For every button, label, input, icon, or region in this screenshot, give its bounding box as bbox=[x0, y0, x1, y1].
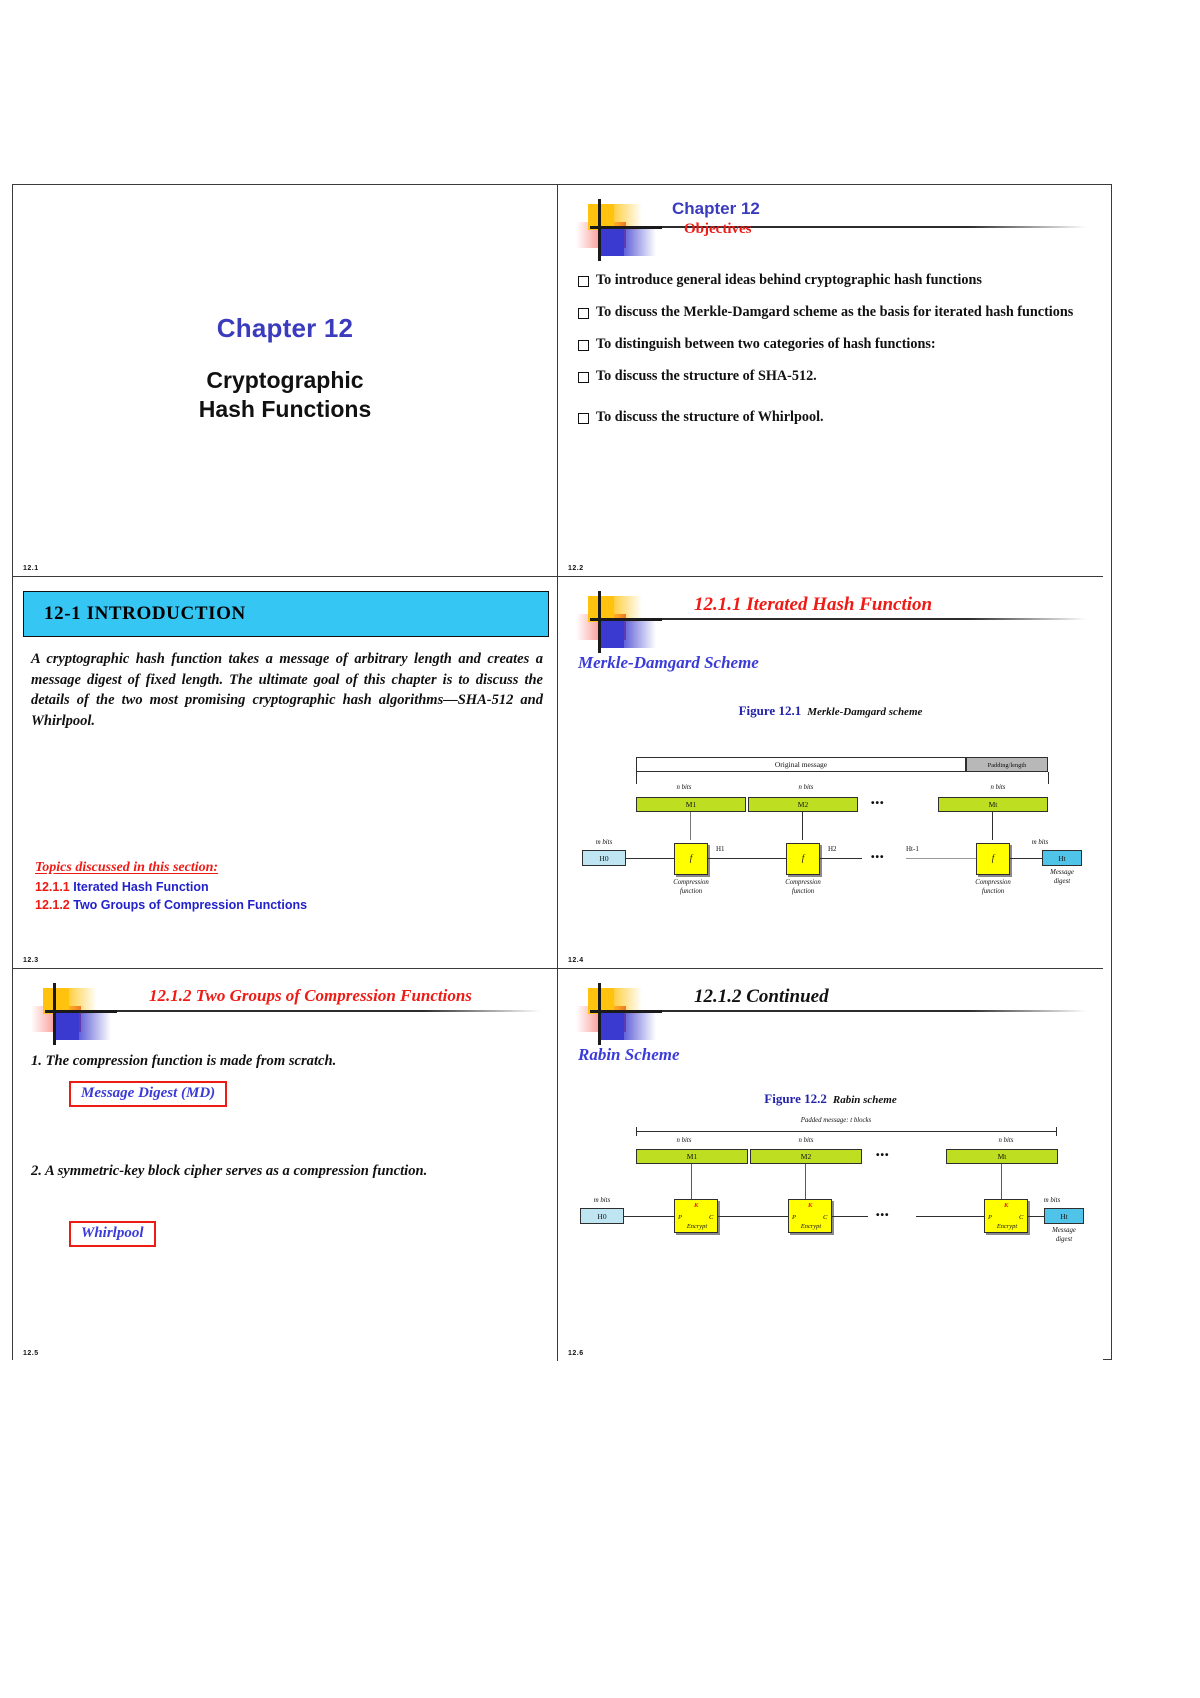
ornament-icon bbox=[576, 199, 662, 261]
bit-label: n bits bbox=[776, 784, 836, 791]
title-block: Chapter 12 Cryptographic Hash Functions bbox=[13, 313, 557, 425]
iv-block: H0 bbox=[582, 850, 626, 866]
topics-block: Topics discussed in this section: 12.1.1… bbox=[35, 860, 307, 912]
slide-two-groups: 12.1.2 Two Groups of Compression Functio… bbox=[13, 969, 558, 1361]
bullet-square-icon bbox=[578, 372, 589, 383]
slide-introduction: 12-1 INTRODUCTION A cryptographic hash f… bbox=[13, 577, 558, 969]
section-banner: 12-1 INTRODUCTION bbox=[23, 591, 549, 637]
topic-number: 12.1.2 bbox=[35, 898, 70, 912]
slide-header: Chapter 12 Objectives bbox=[576, 199, 1087, 261]
ellipsis: ••• bbox=[876, 1210, 890, 1221]
section-banner-label: 12-1 INTRODUCTION bbox=[44, 603, 246, 625]
figure-caption-text: Rabin scheme bbox=[833, 1094, 897, 1106]
message-digest-block: Ht bbox=[1044, 1208, 1084, 1224]
message-block: M1 bbox=[636, 797, 746, 812]
padded-message-label: Padded message: t blocks bbox=[706, 1117, 966, 1124]
figure-caption: Figure 12.1 Merkle-Damgard scheme bbox=[558, 703, 1103, 719]
function-caption-line2: function bbox=[963, 888, 1023, 895]
slide-header: 12.1.2 Continued bbox=[576, 983, 1087, 1045]
ellipsis: ••• bbox=[871, 798, 885, 809]
cipher-name: Encrypt bbox=[789, 1223, 833, 1230]
slide-grid: Chapter 12 Cryptographic Hash Functions … bbox=[12, 184, 1112, 1360]
bit-label: n bits bbox=[776, 1137, 836, 1144]
topics-heading: Topics discussed in this section: bbox=[35, 860, 307, 876]
figure-caption-number: Figure 12.2 bbox=[764, 1091, 827, 1106]
header-rule bbox=[117, 1010, 541, 1012]
slide-continued-rabin: 12.1.2 Continued Rabin Scheme Figure 12.… bbox=[558, 969, 1103, 1361]
header-title: 12.1.1 Iterated Hash Function bbox=[694, 594, 932, 616]
output-caption-line1: Message bbox=[1040, 1227, 1088, 1234]
objective-text: To introduce general ideas behind crypto… bbox=[596, 271, 1085, 290]
compression-function-box: f bbox=[786, 843, 820, 875]
slide-header: 12.1.2 Two Groups of Compression Functio… bbox=[31, 983, 541, 1045]
cipher-box: P K C Encrypt bbox=[984, 1199, 1028, 1233]
header-rule bbox=[662, 618, 1087, 620]
message-block: Mt bbox=[938, 797, 1048, 812]
slide-title: Chapter 12 Cryptographic Hash Functions … bbox=[13, 185, 558, 577]
bit-label: n bits bbox=[976, 1137, 1036, 1144]
ellipsis: ••• bbox=[871, 852, 885, 863]
bullet-square-icon bbox=[578, 413, 589, 424]
bit-label: n bits bbox=[654, 1137, 714, 1144]
header-subtitle: Objectives bbox=[684, 221, 751, 238]
function-caption-line1: Compression bbox=[963, 879, 1023, 886]
objective-text: To distinguish between two categories of… bbox=[596, 335, 1085, 354]
function-caption-line2: function bbox=[661, 888, 721, 895]
chain-label: Ht-1 bbox=[906, 845, 919, 853]
ciphertext-label: C bbox=[709, 1214, 713, 1221]
message-block: Mt bbox=[946, 1149, 1058, 1164]
function-caption-line1: Compression bbox=[773, 879, 833, 886]
slide-page-number: 12.4 bbox=[568, 957, 584, 964]
output-caption-line1: Message bbox=[1038, 869, 1086, 876]
cipher-box: P K C Encrypt bbox=[674, 1199, 718, 1233]
figure-caption: Figure 12.2 Rabin scheme bbox=[558, 1091, 1103, 1107]
sub-heading: Rabin Scheme bbox=[578, 1045, 680, 1065]
ornament-icon bbox=[576, 591, 662, 653]
bit-label: n bits bbox=[968, 784, 1028, 791]
slide-page-number: 12.2 bbox=[568, 565, 584, 572]
list-item: To distinguish between two categories of… bbox=[578, 335, 1085, 354]
header-rule bbox=[662, 1010, 1087, 1012]
slide-page-number: 12.1 bbox=[23, 565, 39, 572]
ellipsis: ••• bbox=[876, 1150, 890, 1161]
figure-merkle-damgard: Original message Padding/length n bits n… bbox=[576, 757, 1086, 942]
plaintext-label: P bbox=[678, 1214, 682, 1221]
key-label: K bbox=[694, 1202, 698, 1209]
padding-length-bar: Padding/length bbox=[966, 757, 1048, 772]
highlight-box-md: Message Digest (MD) bbox=[69, 1081, 227, 1107]
iv-block: H0 bbox=[580, 1208, 624, 1224]
message-block: M2 bbox=[750, 1149, 862, 1164]
cipher-name: Encrypt bbox=[675, 1223, 719, 1230]
list-item: 12.1.1 Iterated Hash Function bbox=[35, 880, 307, 894]
list-item: To discuss the Merkle-Damgard scheme as … bbox=[578, 303, 1085, 322]
slide-header: 12.1.1 Iterated Hash Function bbox=[576, 591, 1087, 653]
ciphertext-label: C bbox=[1019, 1214, 1023, 1221]
sub-heading: Merkle-Damgard Scheme bbox=[578, 653, 759, 673]
bullet-square-icon bbox=[578, 308, 589, 319]
group-item-1: 1. The compression function is made from… bbox=[31, 1051, 541, 1071]
message-block: M1 bbox=[636, 1149, 748, 1164]
plaintext-label: P bbox=[792, 1214, 796, 1221]
header-title: Chapter 12 bbox=[672, 199, 760, 219]
function-caption-line1: Compression bbox=[661, 879, 721, 886]
intro-paragraph: A cryptographic hash function takes a me… bbox=[31, 649, 543, 731]
header-title: 12.1.2 Continued bbox=[694, 986, 829, 1008]
figure-caption-number: Figure 12.1 bbox=[739, 703, 802, 718]
bit-label: n bits bbox=[654, 784, 714, 791]
list-item: 12.1.2 Two Groups of Compression Functio… bbox=[35, 898, 307, 912]
chapter-label: Chapter 12 bbox=[13, 313, 557, 344]
key-label: K bbox=[808, 1202, 812, 1209]
topic-name: Iterated Hash Function bbox=[73, 880, 208, 894]
ciphertext-label: C bbox=[823, 1214, 827, 1221]
iv-bit-label: m bits bbox=[580, 839, 628, 846]
list-item: To discuss the structure of Whirlpool. bbox=[578, 408, 1085, 427]
figure-caption-text: Merkle-Damgard scheme bbox=[807, 706, 922, 718]
topic-number: 12.1.1 bbox=[35, 880, 70, 894]
topic-name: Two Groups of Compression Functions bbox=[73, 898, 307, 912]
message-block: M2 bbox=[748, 797, 858, 812]
output-caption-line2: digest bbox=[1038, 878, 1086, 885]
slide-objectives: Chapter 12 Objectives To introduce gener… bbox=[558, 185, 1103, 577]
iv-bit-label: m bits bbox=[578, 1197, 626, 1204]
objective-text: To discuss the structure of SHA-512. bbox=[596, 367, 1085, 386]
slide-page-number: 12.5 bbox=[23, 1350, 39, 1357]
plaintext-label: P bbox=[988, 1214, 992, 1221]
message-digest-block: Ht bbox=[1042, 850, 1082, 866]
output-bit-label: m bits bbox=[1028, 1197, 1076, 1204]
chapter-title-line1: Cryptographic bbox=[13, 366, 557, 395]
output-bit-label: m bits bbox=[1016, 839, 1064, 846]
objective-text: To discuss the Merkle-Damgard scheme as … bbox=[596, 303, 1085, 322]
output-caption-line2: digest bbox=[1040, 1236, 1088, 1243]
highlight-box-whirlpool: Whirlpool bbox=[69, 1221, 156, 1247]
slide-page-number: 12.6 bbox=[568, 1350, 584, 1357]
handout-page: Chapter 12 Cryptographic Hash Functions … bbox=[0, 0, 1200, 1698]
bullet-square-icon bbox=[578, 340, 589, 351]
ornament-icon bbox=[31, 983, 117, 1045]
chapter-title: Cryptographic Hash Functions bbox=[13, 366, 557, 425]
chapter-title-line2: Hash Functions bbox=[13, 395, 557, 424]
list-item: To introduce general ideas behind crypto… bbox=[578, 271, 1085, 290]
key-label: K bbox=[1004, 1202, 1008, 1209]
objective-text: To discuss the structure of Whirlpool. bbox=[596, 408, 1085, 427]
compression-function-box: f bbox=[674, 843, 708, 875]
function-caption-line2: function bbox=[773, 888, 833, 895]
group-item-2: 2. A symmetric-key block cipher serves a… bbox=[31, 1161, 541, 1181]
figure-rabin-scheme: Padded message: t blocks n bits n bits n… bbox=[576, 1117, 1088, 1297]
header-title: 12.1.2 Two Groups of Compression Functio… bbox=[149, 986, 472, 1006]
compression-function-box: f bbox=[976, 843, 1010, 875]
ornament-icon bbox=[576, 983, 662, 1045]
slide-page-number: 12.3 bbox=[23, 957, 39, 964]
cipher-box: P K C Encrypt bbox=[788, 1199, 832, 1233]
bullet-square-icon bbox=[578, 276, 589, 287]
objectives-list: To introduce general ideas behind crypto… bbox=[578, 271, 1085, 439]
original-message-bar: Original message bbox=[636, 757, 966, 772]
chain-label: H1 bbox=[716, 845, 725, 853]
cipher-name: Encrypt bbox=[985, 1223, 1029, 1230]
chain-label: H2 bbox=[828, 845, 837, 853]
slide-iterated-hash: 12.1.1 Iterated Hash Function Merkle-Dam… bbox=[558, 577, 1103, 969]
list-item: To discuss the structure of SHA-512. bbox=[578, 367, 1085, 386]
